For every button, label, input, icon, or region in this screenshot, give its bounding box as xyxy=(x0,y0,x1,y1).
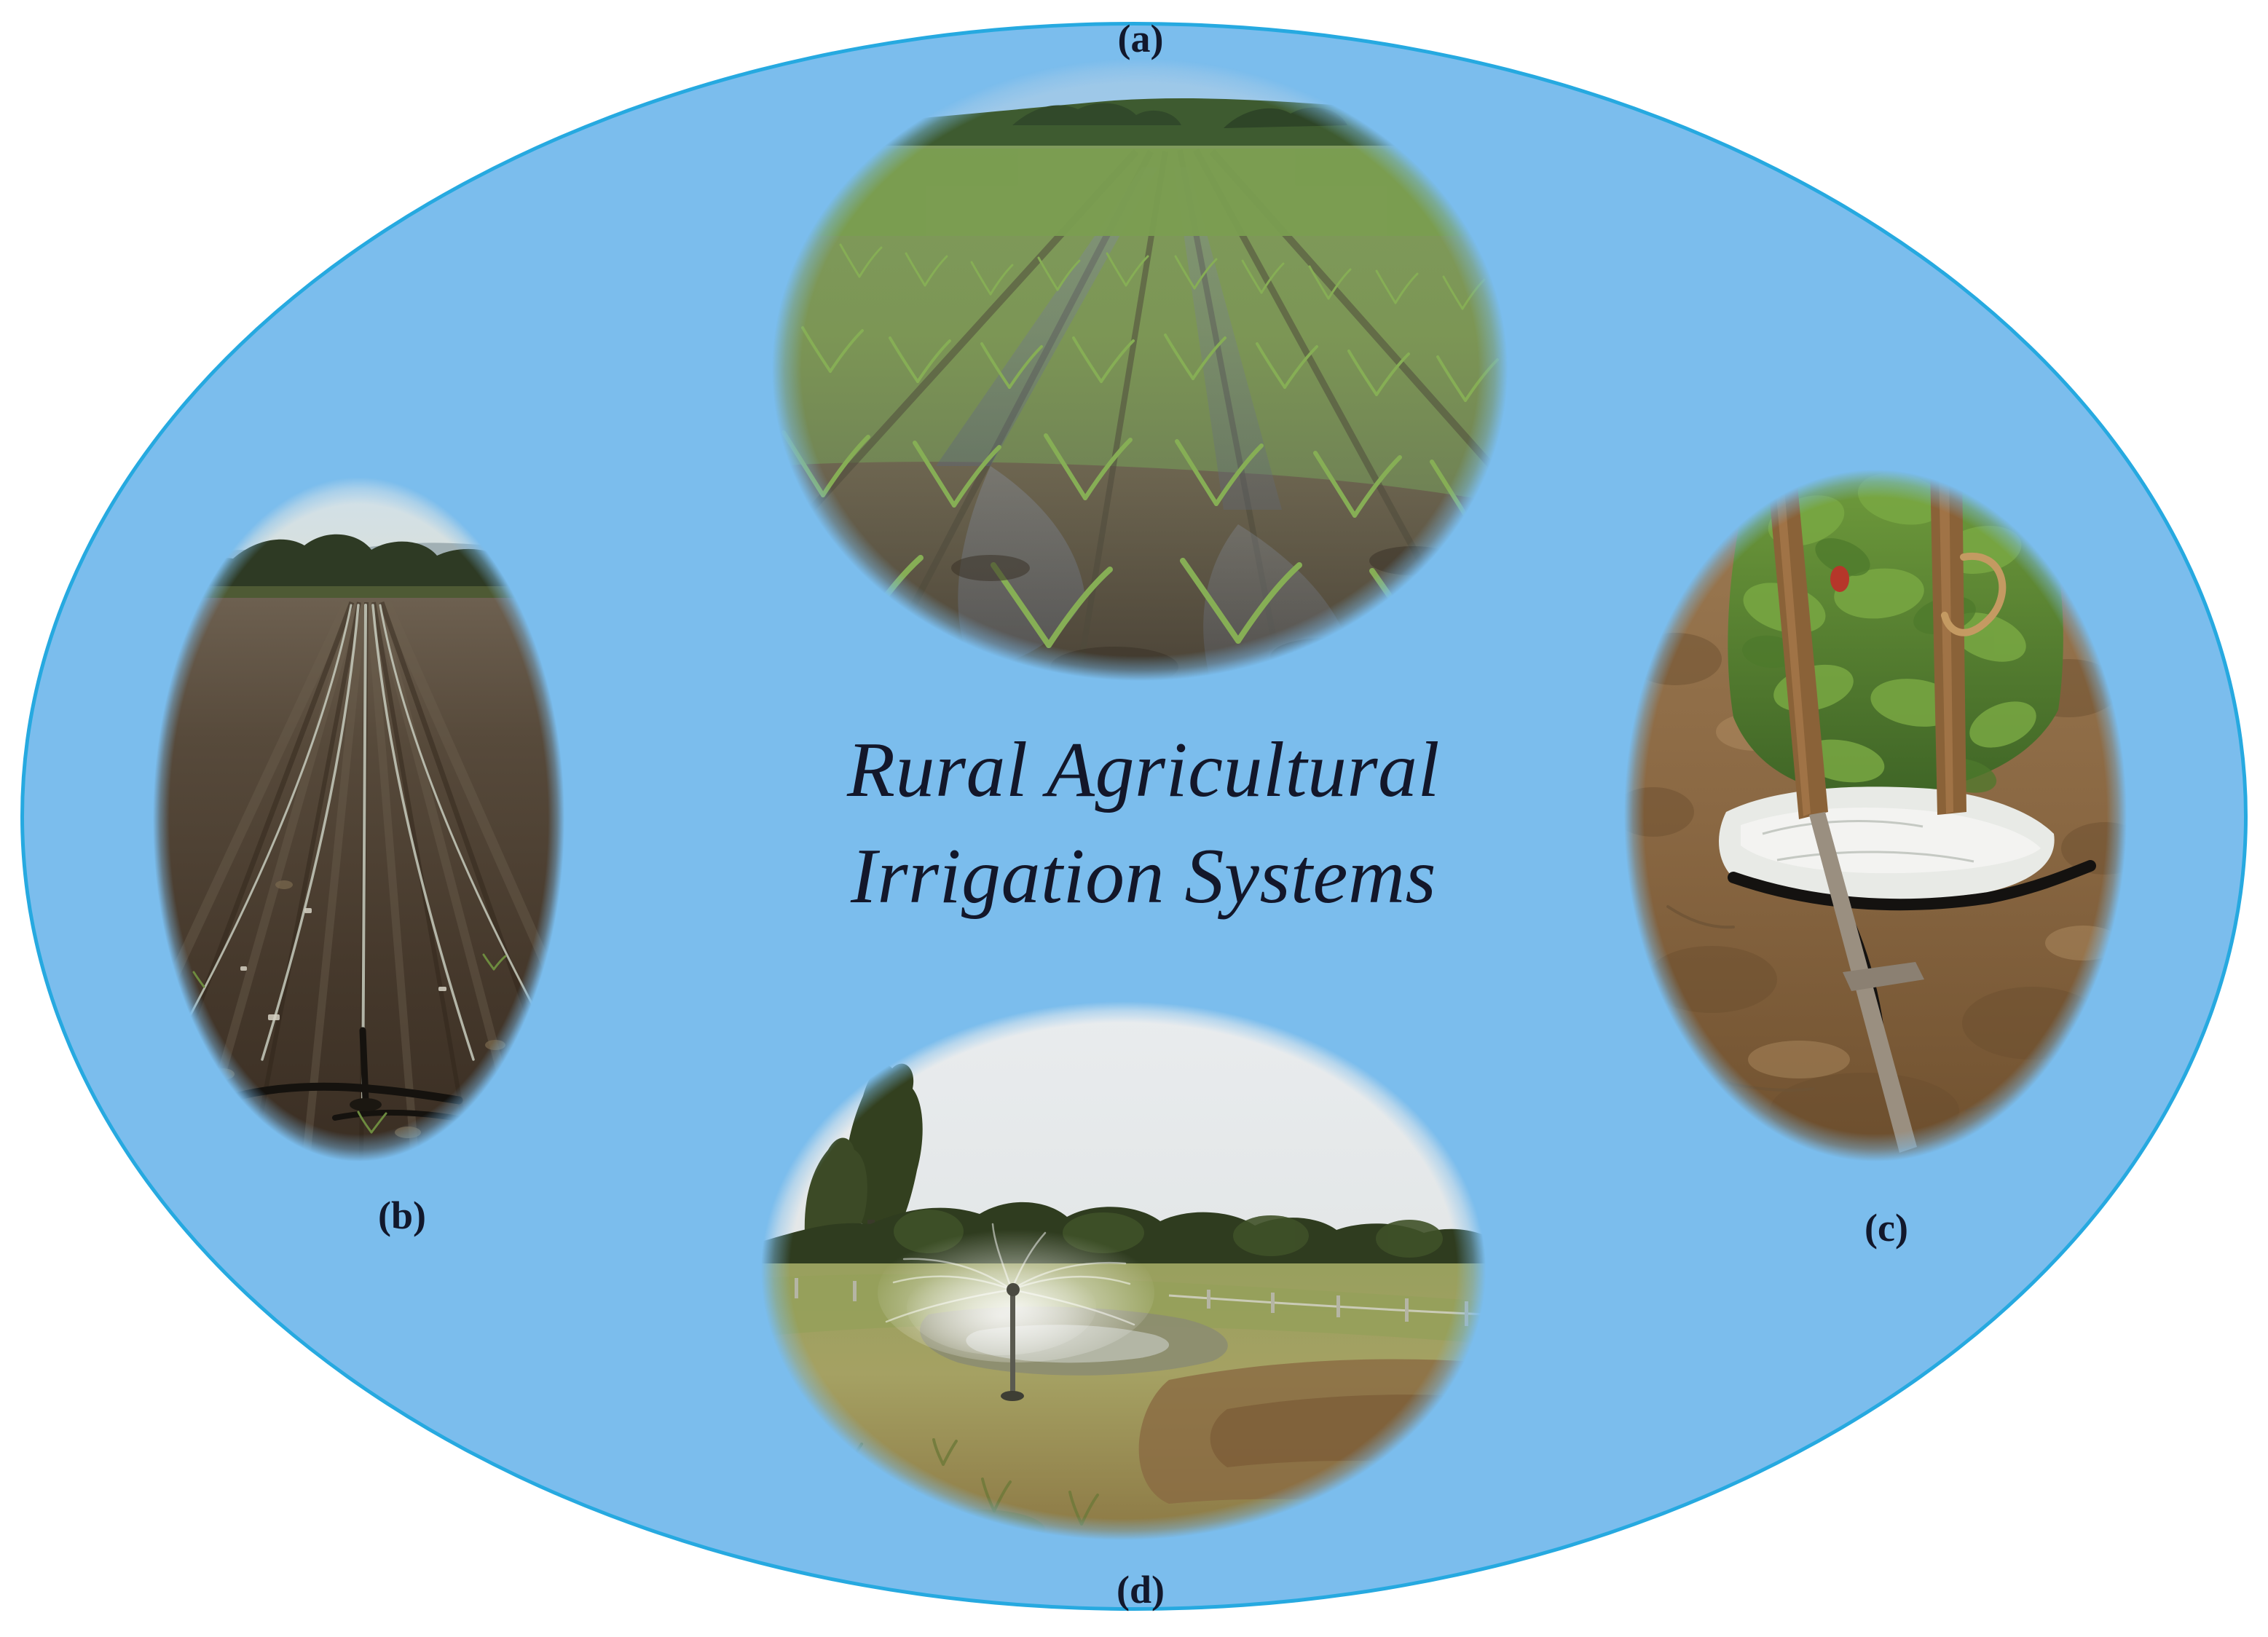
panel-c-photo xyxy=(1624,470,2127,1161)
panel-label-c: (c) xyxy=(1814,1205,1959,1250)
panel-d-photo xyxy=(761,1001,1486,1540)
drip-irrigation-bare-field-scene xyxy=(153,477,564,1161)
figure-title-line-2: Irrigation Systems xyxy=(736,824,1551,930)
drip-irrigation-pepper-plants-scene xyxy=(1624,470,2127,1161)
sprinkler-irrigation-pasture-scene xyxy=(761,1001,1486,1540)
figure-root: Rural Agricultural Irrigation Systems (a… xyxy=(0,0,2268,1637)
figure-title: Rural Agricultural Irrigation Systems xyxy=(736,717,1551,930)
furrow-irrigation-corn-scene xyxy=(772,58,1508,681)
panel-b-photo xyxy=(153,477,564,1161)
panel-label-b: (b) xyxy=(329,1193,475,1238)
panel-label-a: (a) xyxy=(1068,16,1213,61)
figure-title-line-1: Rural Agricultural xyxy=(736,717,1551,824)
panel-label-d: (d) xyxy=(1068,1567,1213,1612)
panel-a-photo xyxy=(772,58,1508,681)
